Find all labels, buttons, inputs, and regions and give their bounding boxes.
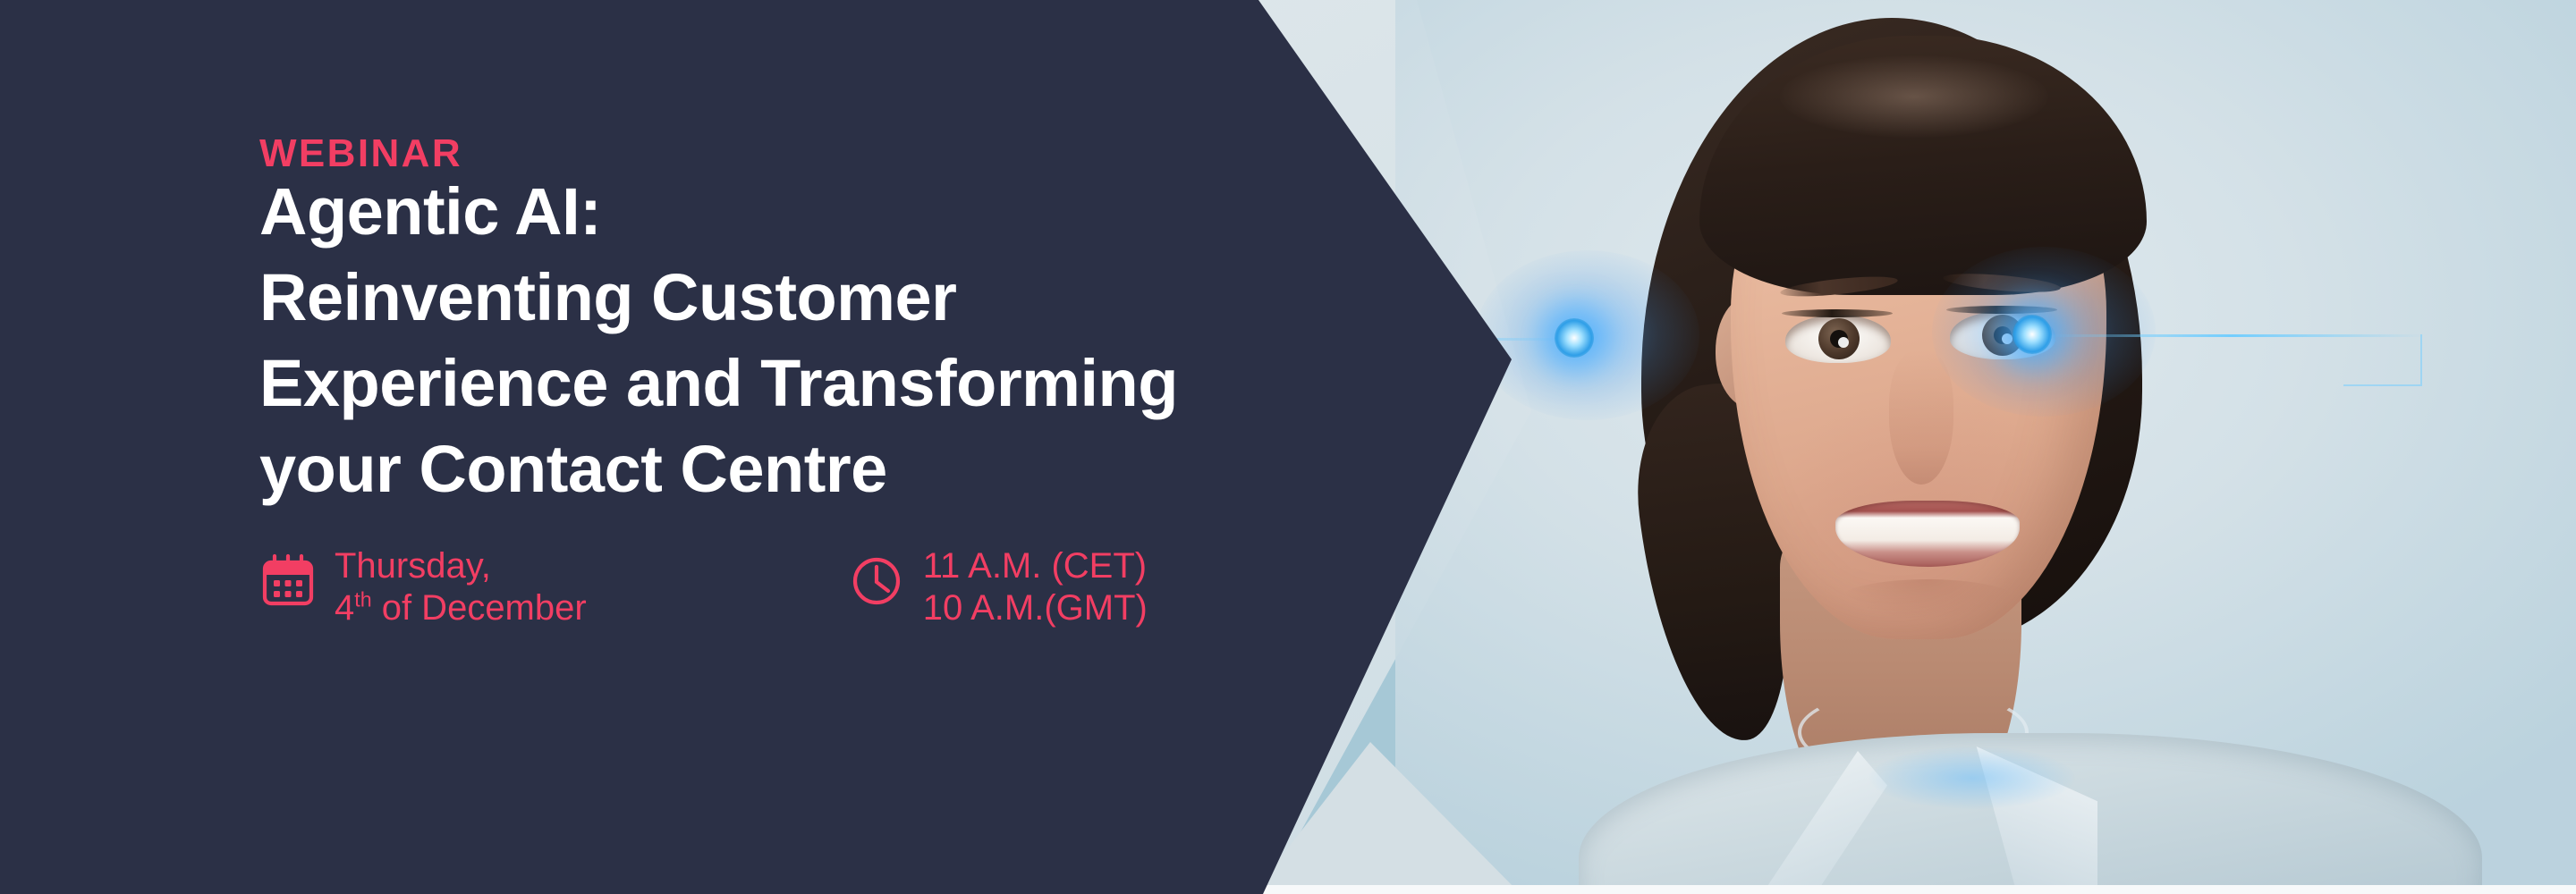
eyelash-left <box>1782 309 1893 317</box>
bottom-white-strip <box>1252 885 2576 894</box>
iris-left <box>1818 318 1860 359</box>
event-day-number: 4 <box>335 588 354 628</box>
eyebrow-label: WEBINAR <box>259 134 462 173</box>
ai-scan-bracket-right <box>2343 334 2422 386</box>
event-time: 11 A.M. (CET) 10 A.M.(GMT) <box>848 545 1148 629</box>
ai-scan-node-right <box>2012 315 2052 354</box>
headline-line-4: your Contact Centre <box>259 436 1315 502</box>
event-date: Thursday, 4th of December <box>259 545 587 629</box>
clock-icon <box>848 552 905 610</box>
banner-content: WEBINAR Agentic AI: Reinventing Customer… <box>259 0 1333 894</box>
calendar-icon <box>259 552 317 610</box>
event-details: Thursday, 4th of December 11 A.M. (CET) … <box>259 545 1148 629</box>
chin-shadow <box>1838 579 2017 620</box>
event-date-line-1: Thursday, <box>335 545 587 587</box>
eye-left <box>1785 315 1891 363</box>
event-time-line-2: 10 A.M.(GMT) <box>923 587 1148 629</box>
event-time-text: 11 A.M. (CET) 10 A.M.(GMT) <box>923 545 1148 629</box>
pupil-left <box>1830 330 1848 348</box>
webinar-banner: WEBINAR Agentic AI: Reinventing Customer… <box>0 0 2576 894</box>
subject-portrait <box>1485 0 2576 894</box>
headline-line-2: Reinventing Customer <box>259 265 1315 331</box>
hair-highlight <box>1780 55 2048 138</box>
event-date-text: Thursday, 4th of December <box>335 545 587 629</box>
ai-collar-glow <box>1869 746 2075 809</box>
headline-line-1: Agentic AI: <box>259 179 1315 245</box>
event-day-suffix: th <box>354 588 371 611</box>
eye-glint-left <box>1838 337 1849 348</box>
page-title: Agentic AI: Reinventing Customer Experie… <box>259 179 1315 522</box>
event-time-line-1: 11 A.M. (CET) <box>923 545 1148 587</box>
ai-scan-node-left <box>1555 318 1594 358</box>
event-month: of December <box>372 588 587 628</box>
headline-line-3: Experience and Transforming <box>259 350 1315 417</box>
event-date-line-2: 4th of December <box>335 587 587 629</box>
